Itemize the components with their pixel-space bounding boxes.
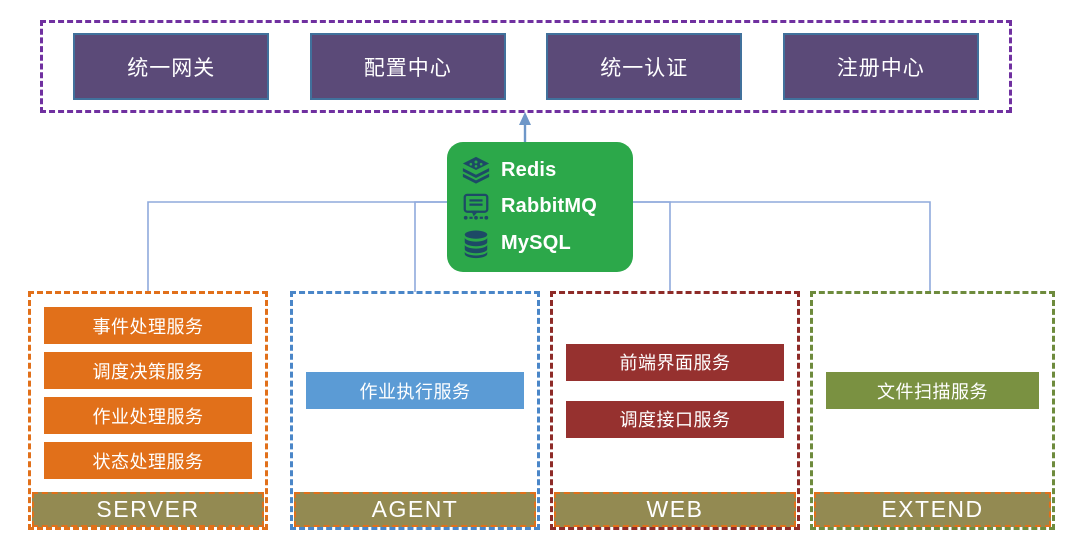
hub-label-rabbitmq: RabbitMQ [501, 195, 597, 218]
service-label: 调度接口服务 [620, 406, 731, 432]
service-label: 文件扫描服务 [877, 378, 988, 404]
hub-label-mysql: MySQL [501, 232, 571, 255]
group-agent-services: 作业执行服务 [290, 291, 540, 490]
group-footer-label: SERVER [96, 496, 199, 523]
service-scheduling-api[interactable]: 调度接口服务 [566, 401, 784, 438]
service-file-scan[interactable]: 文件扫描服务 [826, 372, 1039, 409]
hub-item-mysql[interactable]: MySQL [461, 227, 633, 261]
service-label: 事件处理服务 [93, 313, 204, 339]
service-label: 作业处理服务 [93, 403, 204, 429]
platform-box-label: 统一网关 [127, 52, 215, 82]
group-footer-extend: EXTEND [814, 492, 1051, 527]
group-agent: 作业执行服务 AGENT [290, 291, 540, 530]
platform-box-registry[interactable]: 注册中心 [783, 33, 979, 100]
group-footer-server: SERVER [32, 492, 264, 527]
service-frontend-ui[interactable]: 前端界面服务 [566, 344, 784, 381]
service-label: 作业执行服务 [360, 378, 471, 404]
service-label: 调度决策服务 [93, 358, 204, 384]
group-server-services: 事件处理服务 调度决策服务 作业处理服务 状态处理服务 [28, 291, 268, 490]
middleware-hub: Redis RabbitMQ [447, 142, 633, 272]
hub-item-redis[interactable]: Redis [461, 153, 633, 187]
service-label: 状态处理服务 [93, 448, 204, 474]
group-footer-label: AGENT [372, 496, 459, 523]
service-scheduling-decision[interactable]: 调度决策服务 [44, 352, 252, 389]
platform-box-row: 统一网关 配置中心 统一认证 注册中心 [43, 23, 1009, 110]
group-footer-agent: AGENT [294, 492, 536, 527]
group-footer-web: WEB [554, 492, 796, 527]
group-extend: 文件扫描服务 EXTEND [810, 291, 1055, 530]
hub-item-rabbitmq[interactable]: RabbitMQ [461, 190, 633, 224]
platform-box-auth[interactable]: 统一认证 [546, 33, 742, 100]
message-queue-icon [461, 192, 491, 222]
group-footer-label: WEB [647, 496, 704, 523]
service-job-execution[interactable]: 作业执行服务 [306, 372, 524, 409]
service-state-processing[interactable]: 状态处理服务 [44, 442, 252, 479]
group-footer-label: EXTEND [881, 496, 983, 523]
platform-box-gateway[interactable]: 统一网关 [73, 33, 269, 100]
platform-container: 统一网关 配置中心 统一认证 注册中心 [40, 20, 1012, 113]
group-web: 前端界面服务 调度接口服务 WEB [550, 291, 800, 530]
platform-box-label: 注册中心 [837, 52, 925, 82]
service-label: 前端界面服务 [620, 349, 731, 375]
group-web-services: 前端界面服务 调度接口服务 [550, 291, 800, 490]
service-job-processing[interactable]: 作业处理服务 [44, 397, 252, 434]
platform-box-config-center[interactable]: 配置中心 [310, 33, 506, 100]
layers-icon [461, 155, 491, 185]
group-server: 事件处理服务 调度决策服务 作业处理服务 状态处理服务 SERVER [28, 291, 268, 530]
group-extend-services: 文件扫描服务 [810, 291, 1055, 490]
platform-box-label: 统一认证 [600, 52, 688, 82]
hub-label-redis: Redis [501, 159, 556, 182]
service-event-processing[interactable]: 事件处理服务 [44, 307, 252, 344]
database-icon [461, 229, 491, 259]
platform-box-label: 配置中心 [364, 52, 452, 82]
architecture-diagram: 统一网关 配置中心 统一认证 注册中心 [0, 0, 1080, 545]
